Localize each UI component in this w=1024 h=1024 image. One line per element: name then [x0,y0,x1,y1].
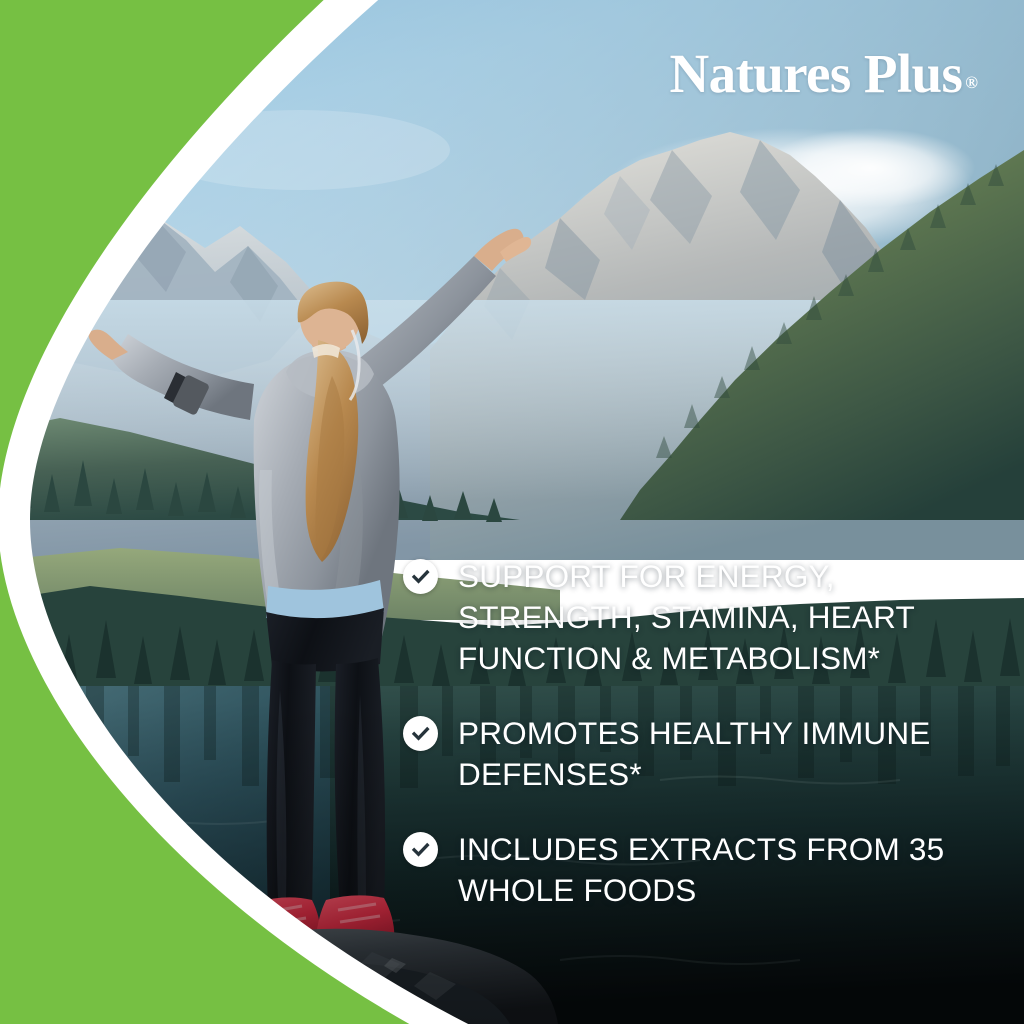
brand-logo[interactable]: Natures Plus ® [670,46,978,101]
benefit-text: PROMOTES HEALTHY IMMUNE DEFENSES* [458,713,988,795]
benefit-item: PROMOTES HEALTHY IMMUNE DEFENSES* [403,713,1003,795]
registered-trademark-icon: ® [965,74,978,91]
check-circle-icon [403,559,438,594]
product-marketing-banner: Natures Plus ® SUPPORT FOR ENERGY, STREN… [0,0,1024,1024]
benefit-item: SUPPORT FOR ENERGY, STRENGTH, STAMINA, H… [403,556,1003,679]
benefit-item: INCLUDES EXTRACTS FROM 35 WHOLE FOODS [403,829,1003,911]
check-circle-icon [403,716,438,751]
benefit-text: SUPPORT FOR ENERGY, STRENGTH, STAMINA, H… [458,556,988,679]
brand-wordmark: Natures Plus [670,46,963,101]
benefit-list: SUPPORT FOR ENERGY, STRENGTH, STAMINA, H… [403,556,1003,911]
check-circle-icon [403,832,438,867]
benefit-text: INCLUDES EXTRACTS FROM 35 WHOLE FOODS [458,829,988,911]
